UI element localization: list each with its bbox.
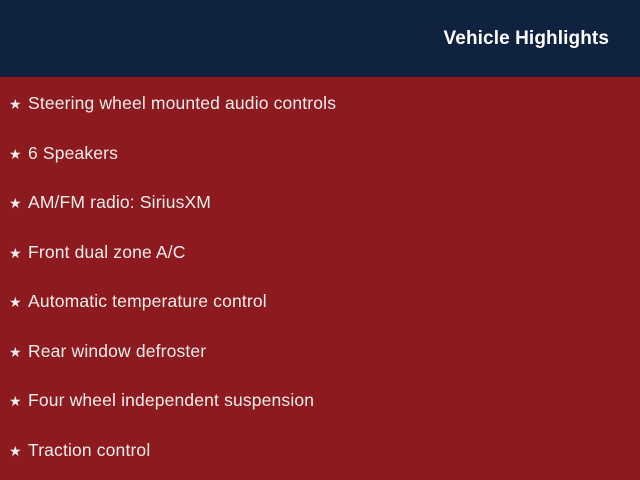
list-item: ★ Front dual zone A/C [9,244,640,294]
star-bullet-icon: ★ [9,97,28,111]
star-bullet-icon: ★ [9,246,28,260]
feature-label: Automatic temperature control [28,293,267,311]
vehicle-highlights-slide: Vehicle Highlights ★ Steering wheel moun… [0,0,640,480]
list-item: ★ Four wheel independent suspension [9,392,640,442]
feature-label: Four wheel independent suspension [28,392,314,410]
list-item: ★ Rear window defroster [9,343,640,393]
feature-label: Traction control [28,442,150,460]
feature-label: 6 Speakers [28,145,118,163]
feature-label: Front dual zone A/C [28,244,186,262]
slide-header: Vehicle Highlights [0,0,640,77]
list-item: ★ Steering wheel mounted audio controls [9,95,640,145]
star-bullet-icon: ★ [9,196,28,210]
feature-label: Rear window defroster [28,343,206,361]
page-title: Vehicle Highlights [444,29,609,48]
feature-list: ★ Steering wheel mounted audio controls … [9,95,640,480]
list-item: ★ Traction control [9,442,640,480]
star-bullet-icon: ★ [9,147,28,161]
list-item: ★ AM/FM radio: SiriusXM [9,194,640,244]
feature-label: Steering wheel mounted audio controls [28,95,336,113]
star-bullet-icon: ★ [9,345,28,359]
star-bullet-icon: ★ [9,394,28,408]
list-item: ★ 6 Speakers [9,145,640,195]
star-bullet-icon: ★ [9,295,28,309]
highlights-body: ★ Steering wheel mounted audio controls … [0,77,640,480]
star-bullet-icon: ★ [9,444,28,458]
feature-label: AM/FM radio: SiriusXM [28,194,211,212]
list-item: ★ Automatic temperature control [9,293,640,343]
